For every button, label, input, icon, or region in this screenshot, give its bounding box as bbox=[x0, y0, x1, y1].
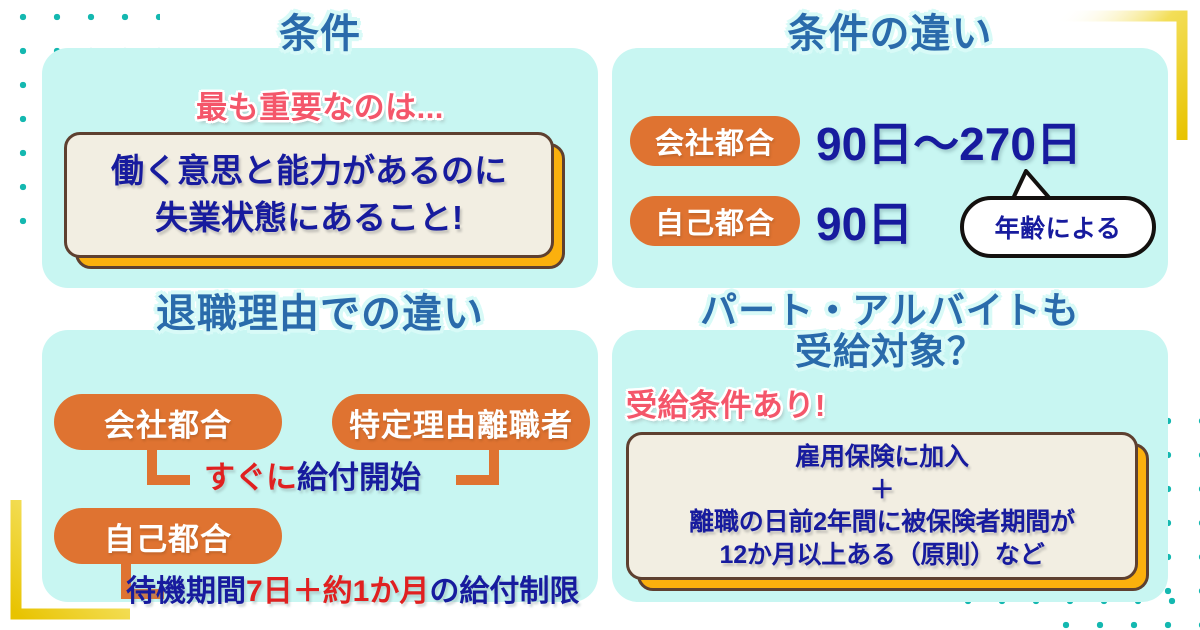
connector-bracket-right-icon bbox=[454, 446, 500, 488]
connector-bracket-left-icon bbox=[146, 446, 192, 488]
value-company-benefit-days: 90日〜270日 bbox=[816, 108, 1082, 174]
part-time-callout-text: 雇用保険に加入 ＋ 離職の日前2年間に被保険者期間が 12か月以上ある（原則）な… bbox=[689, 441, 1075, 571]
pill-company-reason-resignation: 会社都合 bbox=[54, 394, 282, 450]
callout-surface: 働く意思と能力があるのに 失業状態にあること! bbox=[64, 132, 554, 258]
panel-resignation-reason-differences: 退職理由での違い 会社都合 特定理由離職者 自己都合 すぐに給付開始 待機期間7… bbox=[42, 330, 598, 602]
panel-part-time-title: パート・アルバイトも 受給対象？ bbox=[612, 290, 1168, 373]
speech-bubble-label: 年齢による bbox=[995, 209, 1122, 245]
pill-company-reason: 会社都合 bbox=[630, 116, 800, 166]
panel-conditions-title: 条件 bbox=[42, 12, 598, 57]
text-immediate-navy-part: 給付開始 bbox=[297, 460, 421, 495]
panel-conditions: 条件 最も重要なのは... 働く意思と能力があるのに 失業状態にあること! bbox=[42, 48, 598, 288]
text-benefit-restriction: 待機期間7日＋約1か月の給付制限 bbox=[126, 566, 579, 610]
text-immediate-red-part: すぐに bbox=[204, 460, 297, 495]
text-restriction-navy-start: 待機期間 bbox=[126, 575, 246, 608]
text-restriction-navy-end: の給付制限 bbox=[429, 575, 579, 608]
pill-specific-reason-leaver: 特定理由離職者 bbox=[332, 394, 590, 450]
text-restriction-red-part: 7日＋約1か月 bbox=[246, 575, 429, 608]
panel-part-time-eligibility: パート・アルバイトも 受給対象？ 受給条件あり! 雇用保険に加入 ＋ 離職の日前… bbox=[612, 330, 1168, 602]
panel-condition-differences-title: 条件の違い bbox=[612, 12, 1168, 57]
speech-bubble-age-note: 年齢による bbox=[960, 196, 1156, 258]
panel-conditions-accent-text: 最も重要なのは... bbox=[42, 82, 598, 127]
text-immediate-payment-start: すぐに給付開始 bbox=[204, 452, 421, 497]
panel-condition-differences: 条件の違い 会社都合 90日〜270日 自己都合 90日 年齢による bbox=[612, 48, 1168, 288]
panel-resignation-reason-title: 退職理由での違い bbox=[42, 292, 598, 337]
value-personal-benefit-days: 90日 bbox=[816, 188, 913, 254]
part-time-callout-box: 雇用保険に加入 ＋ 離職の日前2年間に被保険者期間が 12か月以上ある（原則）な… bbox=[626, 432, 1138, 580]
infographic-canvas: 条件 最も重要なのは... 働く意思と能力があるのに 失業状態にあること! 条件… bbox=[0, 0, 1200, 630]
speech-bubble-body: 年齢による bbox=[960, 196, 1156, 258]
conditions-callout-box: 働く意思と能力があるのに 失業状態にあること! bbox=[64, 132, 554, 258]
conditions-callout-text: 働く意思と能力があるのに 失業状態にあること! bbox=[111, 148, 507, 242]
callout-surface: 雇用保険に加入 ＋ 離職の日前2年間に被保険者期間が 12か月以上ある（原則）な… bbox=[626, 432, 1138, 580]
pill-personal-reason: 自己都合 bbox=[630, 196, 800, 246]
pill-personal-reason-resignation: 自己都合 bbox=[54, 508, 282, 564]
panel-part-time-accent-text: 受給条件あり! bbox=[626, 380, 826, 425]
